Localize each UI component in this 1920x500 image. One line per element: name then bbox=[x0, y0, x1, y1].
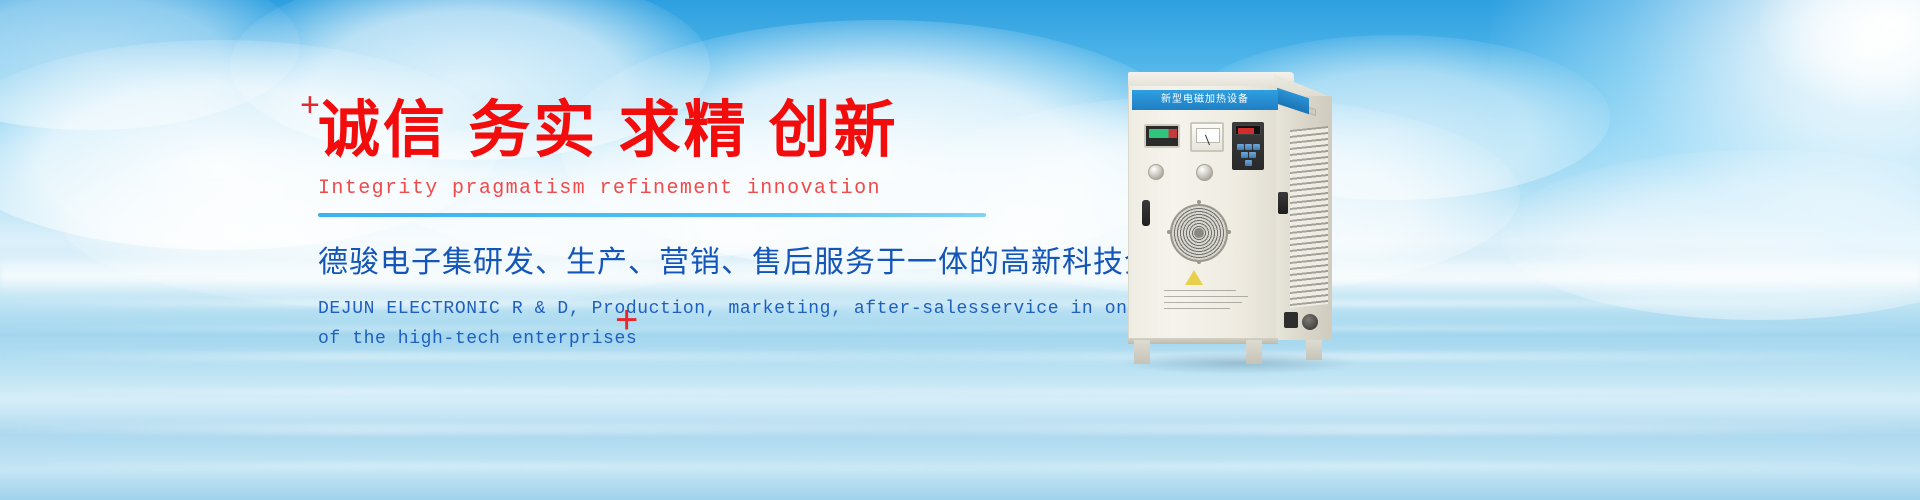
machine-keypad-button bbox=[1249, 152, 1256, 158]
machine-leg bbox=[1246, 340, 1262, 364]
hero-banner: + + 诚信 务实 求精 创新 Integrity pragmatism ref… bbox=[0, 0, 1920, 500]
water-streak bbox=[0, 388, 1920, 394]
machine-control-keypad bbox=[1232, 122, 1264, 170]
machine-knob bbox=[1196, 164, 1213, 181]
sun-core bbox=[1760, 0, 1920, 110]
banner-text-block: 诚信 务实 求精 创新 Integrity pragmatism refinem… bbox=[318, 96, 1018, 355]
machine-knob bbox=[1148, 164, 1164, 180]
cloud bbox=[0, 0, 300, 130]
machine-fan-screw bbox=[1227, 230, 1231, 234]
machine-bottom-port bbox=[1284, 312, 1298, 328]
banner-headline-en: Integrity pragmatism refinement innovati… bbox=[318, 177, 1018, 200]
machine-keypad-button bbox=[1241, 152, 1248, 158]
banner-subline-cn: 德骏电子集研发、生产、营销、售后服务于一体的高新科技企业 bbox=[318, 237, 1018, 281]
banner-subline-en-line1: DEJUN ELECTRONIC R & D, Production, mark… bbox=[318, 295, 1018, 325]
machine-fan-grille bbox=[1170, 204, 1228, 262]
machine-keypad-button bbox=[1237, 144, 1244, 150]
plus-decoration-icon: + bbox=[300, 88, 320, 122]
machine-keypad-led-digits bbox=[1238, 128, 1254, 134]
banner-subline-en: DEJUN ELECTRONIC R & D, Production, mark… bbox=[318, 295, 1018, 354]
banner-subline-en-line2: of the high-tech enterprises bbox=[318, 325, 1018, 355]
machine-leg bbox=[1134, 340, 1150, 364]
banner-divider bbox=[318, 213, 986, 217]
water-streak bbox=[0, 424, 1920, 435]
machine-warning-icon bbox=[1185, 270, 1203, 285]
machine-fan-hub bbox=[1194, 228, 1204, 238]
machine-door-handle bbox=[1142, 200, 1150, 226]
machine-spec-line bbox=[1164, 296, 1248, 297]
machine-label: 新型电磁加热设备 bbox=[1132, 90, 1278, 110]
machine-digital-display bbox=[1144, 124, 1180, 148]
machine-analog-gauge bbox=[1190, 122, 1224, 152]
machine-gauge-face bbox=[1196, 128, 1220, 143]
machine-fan-screw bbox=[1167, 230, 1171, 234]
banner-headline-cn: 诚信 务实 求精 创新 bbox=[318, 96, 1018, 165]
machine-display-digits bbox=[1149, 129, 1177, 138]
machine-fan-screw bbox=[1197, 260, 1201, 264]
product-image-machine: 新型电磁加热设备 bbox=[1128, 72, 1338, 360]
machine-spec-line bbox=[1164, 290, 1236, 291]
machine-keypad-led bbox=[1235, 125, 1261, 135]
machine-side-lock bbox=[1278, 192, 1288, 214]
machine-keypad-button bbox=[1253, 144, 1260, 150]
machine-keypad-button bbox=[1245, 160, 1252, 166]
machine-spec-line bbox=[1164, 302, 1242, 303]
machine-spec-text bbox=[1164, 290, 1250, 324]
water-streak bbox=[0, 462, 1920, 469]
machine-leg bbox=[1306, 340, 1322, 360]
machine-keypad-button bbox=[1245, 144, 1252, 150]
machine-spec-line bbox=[1164, 308, 1230, 309]
machine-bottom-outlet bbox=[1302, 314, 1318, 330]
machine-fan-screw bbox=[1197, 200, 1201, 204]
machine-side-vents bbox=[1290, 126, 1328, 308]
machine-gauge-needle bbox=[1205, 135, 1210, 146]
